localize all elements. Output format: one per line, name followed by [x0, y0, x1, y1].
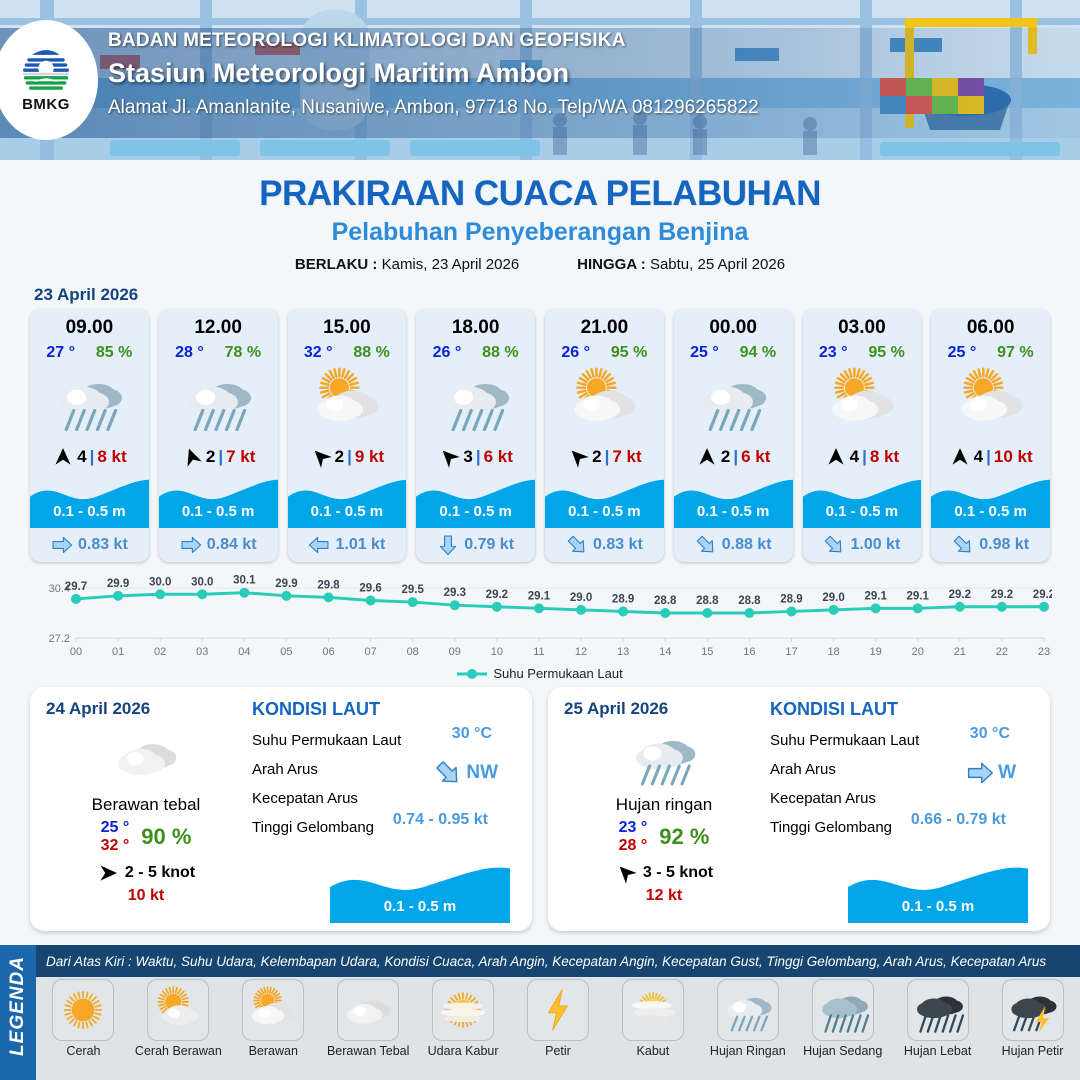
wind-separator: | — [347, 447, 352, 467]
sea-conditions: KONDISI LAUT Suhu Permukaan Laut Arah Ar… — [764, 699, 1034, 921]
day-wave: 0.1 - 0.5 m — [330, 861, 510, 923]
sst-chart-svg: 30.427.229.70029.90130.00230.00330.10429… — [28, 572, 1052, 664]
agency-name: BADAN METEOROLOGI KLIMATOLOGI DAN GEOFIS… — [108, 30, 759, 52]
day-date: 24 April 2026 — [46, 699, 246, 719]
station-address: Alamat Jl. Amanlanite, Nusaniwe, Ambon, … — [108, 97, 759, 119]
svg-text:29.9: 29.9 — [275, 578, 297, 590]
day-humidity: 92 % — [659, 824, 709, 850]
svg-text:29.2: 29.2 — [949, 589, 971, 601]
forecast-card: 06.00 25 ° 97 % 4 | 10 kt 0.1 - 0.5 m — [931, 309, 1050, 562]
wind-separator: | — [733, 447, 738, 467]
current-direction-value: W — [998, 762, 1016, 784]
day-temp-hum-row: 25 ° 32 ° 90 % — [46, 819, 246, 856]
legend-item-label: Kabut — [605, 1044, 700, 1058]
svg-text:30.0: 30.0 — [191, 576, 213, 588]
legend-items: Cerah Cerah Berawan Berawan — [36, 979, 1080, 1058]
current-direction-arrow-icon — [566, 534, 588, 556]
overcast-icon — [337, 979, 399, 1041]
light-rain-icon — [30, 362, 149, 440]
card-temp-hum-row: 27 ° 85 % — [30, 344, 149, 362]
current-speed-value: 0.74 - 0.95 kt — [393, 811, 488, 829]
card-time: 18.00 — [416, 317, 535, 339]
card-current-row: 1.00 kt — [803, 528, 922, 562]
validity-row: BERLAKU : Kamis, 23 April 2026 HINGGA : … — [0, 256, 1080, 273]
cloudy-icon — [288, 362, 407, 440]
day-summary: 24 April 2026 Berawan tebal 25 ° 32 ° 90… — [46, 699, 246, 921]
day-wind-row: 3 - 5 knot — [564, 862, 764, 884]
card-gust: 9 kt — [355, 447, 384, 467]
forecast-card: 12.00 28 ° 78 % 2 | 7 kt 0.1 - 0.5 m — [159, 309, 278, 562]
card-temperature: 23 ° — [819, 344, 848, 362]
card-wind-row: 4 | 8 kt — [30, 440, 149, 474]
page-title: PRAKIRAAN CUACA PELABUHAN — [0, 174, 1080, 214]
svg-text:05: 05 — [280, 646, 292, 658]
card-temperature: 28 ° — [175, 344, 204, 362]
legend-item: Udara Kabur — [416, 979, 511, 1058]
valid-from-label: BERLAKU : — [295, 256, 378, 273]
light-rain-icon — [674, 362, 793, 440]
day-temp-hum-row: 23 ° 28 ° 92 % — [564, 819, 764, 856]
card-wind-speed: 2 — [721, 447, 730, 467]
card-humidity: 85 % — [96, 344, 132, 362]
card-current-speed: 1.01 kt — [335, 536, 385, 554]
card-wind-speed: 4 — [974, 447, 983, 467]
wind-separator: | — [218, 447, 223, 467]
valid-from: BERLAKU : Kamis, 23 April 2026 — [295, 256, 519, 273]
card-time: 12.00 — [159, 317, 278, 339]
svg-text:21: 21 — [954, 646, 966, 658]
card-wind-speed: 4 — [850, 447, 859, 467]
legend-item-label: Berawan Tebal — [321, 1044, 416, 1058]
day-temp-max: 28 ° — [619, 837, 648, 855]
card-temperature: 26 ° — [561, 344, 590, 362]
svg-text:02: 02 — [154, 646, 166, 658]
card-temp-hum-row: 28 ° 78 % — [159, 344, 278, 362]
svg-text:07: 07 — [364, 646, 376, 658]
card-current-row: 1.01 kt — [288, 528, 407, 562]
station-name: Stasiun Meteorologi Maritim Ambon — [108, 58, 759, 89]
svg-text:03: 03 — [196, 646, 208, 658]
card-temp-hum-row: 25 ° 94 % — [674, 344, 793, 362]
day-gust: 10 kt — [46, 887, 246, 905]
haze-icon — [432, 979, 494, 1041]
page-subtitle: Pelabuhan Penyeberangan Benjina — [0, 218, 1080, 247]
current-direction-arrow-icon — [308, 534, 330, 556]
card-temperature: 32 ° — [304, 344, 333, 362]
card-current-row: 0.98 kt — [931, 528, 1050, 562]
wind-direction-arrow-icon — [949, 446, 971, 468]
day-temp-range: 25 ° 32 ° — [101, 819, 130, 856]
current-speed-label: Kecepatan Arus — [770, 790, 1034, 807]
svg-text:30.0: 30.0 — [149, 576, 171, 588]
svg-text:01: 01 — [112, 646, 124, 658]
forecast-card: 15.00 32 ° 88 % 2 | 9 kt 0.1 - 0.5 m — [288, 309, 407, 562]
day-temp-min: 23 ° — [619, 819, 648, 837]
svg-text:29.1: 29.1 — [864, 590, 887, 602]
card-humidity: 88 % — [482, 344, 518, 362]
legend-section: LEGENDA Dari Atas Kiri : Waktu, Suhu Uda… — [0, 945, 1080, 1080]
wind-direction-arrow-icon — [825, 446, 847, 468]
fog-icon — [622, 979, 684, 1041]
card-current-row: 0.84 kt — [159, 528, 278, 562]
legend-item-label: Petir — [511, 1044, 606, 1058]
overcast-icon — [46, 721, 246, 793]
card-wave: 0.1 - 0.5 m — [159, 474, 278, 528]
svg-text:04: 04 — [238, 646, 250, 658]
current-direction-arrow-icon — [695, 534, 717, 556]
card-wind-row: 2 | 9 kt — [288, 440, 407, 474]
card-gust: 6 kt — [484, 447, 513, 467]
card-wind-row: 2 | 7 kt — [159, 440, 278, 474]
wind-direction-arrow-icon — [696, 446, 718, 468]
forecast-card: 09.00 27 ° 85 % 4 | 8 kt 0.1 - 0.5 m — [30, 309, 149, 562]
daily-forecast-row: 24 April 2026 Berawan tebal 25 ° 32 ° 90… — [0, 681, 1080, 931]
svg-text:28.8: 28.8 — [738, 595, 761, 607]
card-wind-row: 2 | 7 kt — [545, 440, 664, 474]
legend-item-label: Berawan — [226, 1044, 321, 1058]
card-wave: 0.1 - 0.5 m — [288, 474, 407, 528]
chart-legend: Suhu Permukaan Laut — [0, 666, 1080, 681]
day-wind-range: 3 - 5 knot — [643, 864, 713, 882]
card-current-speed: 0.83 kt — [78, 536, 128, 554]
wind-direction-arrow-icon — [97, 862, 119, 884]
card-wind-row: 4 | 8 kt — [803, 440, 922, 474]
wind-direction-arrow-icon — [567, 446, 589, 468]
card-wave: 0.1 - 0.5 m — [674, 474, 793, 528]
card-temp-hum-row: 25 ° 97 % — [931, 344, 1050, 362]
wind-direction-arrow-icon — [310, 446, 332, 468]
legend-item-label: Udara Kabur — [416, 1044, 511, 1058]
light-rain-icon — [159, 362, 278, 440]
legend-item: Cerah Berawan — [131, 979, 226, 1058]
legend-note: Dari Atas Kiri : Waktu, Suhu Udara, Kele… — [36, 945, 1080, 977]
svg-text:19: 19 — [870, 646, 882, 658]
svg-text:10: 10 — [491, 646, 503, 658]
legend-item-label: Cerah Berawan — [131, 1044, 226, 1058]
card-wave-value: 0.1 - 0.5 m — [30, 503, 149, 520]
card-humidity: 95 % — [611, 344, 647, 362]
card-wave: 0.1 - 0.5 m — [931, 474, 1050, 528]
card-current-speed: 0.98 kt — [979, 536, 1029, 554]
card-current-speed: 0.83 kt — [593, 536, 643, 554]
legend-item: Hujan Lebat — [890, 979, 985, 1058]
card-time: 09.00 — [30, 317, 149, 339]
wind-separator: | — [605, 447, 610, 467]
svg-text:12: 12 — [575, 646, 587, 658]
svg-text:14: 14 — [659, 646, 671, 658]
card-wave: 0.1 - 0.5 m — [545, 474, 664, 528]
svg-text:29.9: 29.9 — [107, 578, 129, 590]
card-gust: 10 kt — [994, 447, 1033, 467]
day-wave-value: 0.1 - 0.5 m — [848, 898, 1028, 915]
card-wave-value: 0.1 - 0.5 m — [803, 503, 922, 520]
valid-from-value: Kamis, 23 April 2026 — [382, 256, 520, 273]
svg-text:16: 16 — [743, 646, 755, 658]
card-time: 21.00 — [545, 317, 664, 339]
sunny-icon — [52, 979, 114, 1041]
svg-text:17: 17 — [785, 646, 797, 658]
svg-text:29.0: 29.0 — [822, 592, 844, 604]
cloudy-icon — [803, 362, 922, 440]
card-gust: 8 kt — [870, 447, 899, 467]
day-condition: Berawan tebal — [46, 795, 246, 815]
wind-direction-arrow-icon — [52, 446, 74, 468]
card-current-speed: 0.79 kt — [464, 536, 514, 554]
card-wind-row: 4 | 10 kt — [931, 440, 1050, 474]
svg-text:29.8: 29.8 — [317, 579, 340, 591]
day-wind-row: 2 - 5 knot — [46, 862, 246, 884]
svg-text:08: 08 — [407, 646, 419, 658]
chart-legend-marker — [457, 668, 487, 680]
legend-item: Hujan Ringan — [700, 979, 795, 1058]
day-temp-min: 25 ° — [101, 819, 130, 837]
sea-conditions-title: KONDISI LAUT — [252, 699, 516, 720]
page-header: BMKG BADAN METEOROLOGI KLIMATOLOGI DAN G… — [0, 0, 1080, 160]
legend-item: Berawan Tebal — [321, 979, 416, 1058]
legend-item: Cerah — [36, 979, 131, 1058]
card-current-speed: 1.00 kt — [850, 536, 900, 554]
card-wave-value: 0.1 - 0.5 m — [545, 503, 664, 520]
wind-separator: | — [862, 447, 867, 467]
chart-legend-label: Suhu Permukaan Laut — [493, 666, 622, 681]
card-current-row: 0.88 kt — [674, 528, 793, 562]
bmkg-logo-icon — [20, 48, 72, 94]
cloudy-icon — [931, 362, 1050, 440]
svg-text:15: 15 — [701, 646, 713, 658]
current-direction-value: NW — [466, 762, 498, 784]
day-temp-range: 23 ° 28 ° — [619, 819, 648, 856]
day-gust: 12 kt — [564, 887, 764, 905]
card-wave-value: 0.1 - 0.5 m — [674, 503, 793, 520]
light-rain-icon — [717, 979, 779, 1041]
forecast-date-label: 23 April 2026 — [34, 285, 1080, 305]
hourly-forecast-row: 09.00 27 ° 85 % 4 | 8 kt 0.1 - 0.5 m — [0, 309, 1080, 562]
svg-text:28.9: 28.9 — [612, 593, 634, 605]
sst-chart: 30.427.229.70029.90130.00230.00330.10429… — [28, 572, 1052, 664]
legend-sidebar: LEGENDA — [0, 945, 36, 1080]
legend-item-label: Hujan Petir — [985, 1044, 1080, 1058]
lightning-icon — [527, 979, 589, 1041]
legend-item: Hujan Sedang — [795, 979, 890, 1058]
svg-text:29.7: 29.7 — [65, 581, 87, 593]
moderate-rain-icon — [812, 979, 874, 1041]
svg-text:06: 06 — [322, 646, 334, 658]
svg-text:29.2: 29.2 — [486, 589, 508, 601]
current-direction-arrow-icon — [823, 534, 845, 556]
card-gust: 7 kt — [612, 447, 641, 467]
wind-direction-arrow-icon — [615, 862, 637, 884]
current-direction-arrow-icon — [434, 759, 462, 787]
current-direction-arrow-icon — [51, 534, 73, 556]
light-rain-icon — [416, 362, 535, 440]
current-speed-value: 0.66 - 0.79 kt — [911, 811, 1006, 829]
svg-text:09: 09 — [449, 646, 461, 658]
card-wave-value: 0.1 - 0.5 m — [288, 503, 407, 520]
card-wave: 0.1 - 0.5 m — [416, 474, 535, 528]
day-wave-value: 0.1 - 0.5 m — [330, 898, 510, 915]
card-temp-hum-row: 26 ° 95 % — [545, 344, 664, 362]
valid-until-label: HINGGA : — [577, 256, 646, 273]
card-wave-value: 0.1 - 0.5 m — [931, 503, 1050, 520]
bmkg-logo-text: BMKG — [22, 96, 70, 113]
svg-text:20: 20 — [912, 646, 924, 658]
svg-text:29.1: 29.1 — [528, 590, 551, 602]
header-text-block: BADAN METEOROLOGI KLIMATOLOGI DAN GEOFIS… — [108, 30, 759, 119]
current-speed-label: Kecepatan Arus — [252, 790, 516, 807]
thunderstorm-icon — [1002, 979, 1064, 1041]
card-temperature: 25 ° — [948, 344, 977, 362]
current-direction-value-row: W — [966, 759, 1016, 787]
card-wave-value: 0.1 - 0.5 m — [159, 503, 278, 520]
card-time: 15.00 — [288, 317, 407, 339]
card-temp-hum-row: 23 ° 95 % — [803, 344, 922, 362]
svg-text:13: 13 — [617, 646, 629, 658]
card-temp-hum-row: 32 ° 88 % — [288, 344, 407, 362]
current-direction-arrow-icon — [180, 534, 202, 556]
svg-text:29.1: 29.1 — [907, 590, 930, 602]
day-condition: Hujan ringan — [564, 795, 764, 815]
card-wave-value: 0.1 - 0.5 m — [416, 503, 535, 520]
card-temperature: 26 ° — [433, 344, 462, 362]
forecast-card: 03.00 23 ° 95 % 4 | 8 kt 0.1 - 0.5 m — [803, 309, 922, 562]
card-time: 03.00 — [803, 317, 922, 339]
card-humidity: 95 % — [868, 344, 904, 362]
legend-item: Hujan Petir — [985, 979, 1080, 1058]
card-current-row: 0.79 kt — [416, 528, 535, 562]
valid-until: HINGGA : Sabtu, 25 April 2026 — [577, 256, 785, 273]
card-gust: 7 kt — [226, 447, 255, 467]
forecast-card: 21.00 26 ° 95 % 2 | 7 kt 0.1 - 0.5 m — [545, 309, 664, 562]
card-wind-row: 3 | 6 kt — [416, 440, 535, 474]
current-direction-value-row: NW — [434, 759, 498, 787]
legend-item: Kabut — [605, 979, 700, 1058]
svg-text:28.9: 28.9 — [780, 593, 802, 605]
heavy-rain-icon — [907, 979, 969, 1041]
daily-forecast-card: 24 April 2026 Berawan tebal 25 ° 32 ° 90… — [30, 687, 532, 931]
svg-text:29.3: 29.3 — [444, 587, 466, 599]
legend-sidebar-label: LEGENDA — [7, 954, 29, 1058]
card-wind-row: 2 | 6 kt — [674, 440, 793, 474]
wind-separator: | — [986, 447, 991, 467]
card-temperature: 25 ° — [690, 344, 719, 362]
light-rain-icon — [564, 721, 764, 793]
card-humidity: 94 % — [740, 344, 776, 362]
svg-text:18: 18 — [827, 646, 839, 658]
day-temp-max: 32 ° — [101, 837, 130, 855]
wind-separator: | — [476, 447, 481, 467]
legend-item: Petir — [511, 979, 606, 1058]
title-block: PRAKIRAAN CUACA PELABUHAN Pelabuhan Peny… — [0, 174, 1080, 273]
svg-text:30.1: 30.1 — [233, 575, 256, 587]
daily-forecast-card: 25 April 2026 Hujan ringan 23 ° 28 ° 92 … — [548, 687, 1050, 931]
current-direction-arrow-icon — [952, 534, 974, 556]
svg-text:22: 22 — [996, 646, 1008, 658]
wind-separator: | — [90, 447, 95, 467]
card-wave: 0.1 - 0.5 m — [30, 474, 149, 528]
forecast-card: 18.00 26 ° 88 % 3 | 6 kt 0.1 - 0.5 m — [416, 309, 535, 562]
sst-value: 30 °C — [452, 725, 492, 743]
legend-item: Berawan — [226, 979, 321, 1058]
sst-value: 30 °C — [970, 725, 1010, 743]
card-wave: 0.1 - 0.5 m — [803, 474, 922, 528]
day-summary: 25 April 2026 Hujan ringan 23 ° 28 ° 92 … — [564, 699, 764, 921]
card-time: 06.00 — [931, 317, 1050, 339]
card-time: 00.00 — [674, 317, 793, 339]
svg-text:29.6: 29.6 — [359, 583, 381, 595]
day-wave: 0.1 - 0.5 m — [848, 861, 1028, 923]
forecast-card: 00.00 25 ° 94 % 2 | 6 kt 0.1 - 0.5 m — [674, 309, 793, 562]
card-humidity: 88 % — [353, 344, 389, 362]
svg-text:00: 00 — [70, 646, 82, 658]
legend-item-label: Hujan Sedang — [795, 1044, 890, 1058]
current-direction-arrow-icon — [437, 534, 459, 556]
card-current-speed: 0.84 kt — [207, 536, 257, 554]
card-current-row: 0.83 kt — [30, 528, 149, 562]
svg-text:29.5: 29.5 — [402, 584, 425, 596]
legend-item-label: Cerah — [36, 1044, 131, 1058]
card-humidity: 97 % — [997, 344, 1033, 362]
card-current-row: 0.83 kt — [545, 528, 664, 562]
cloudy-icon — [545, 362, 664, 440]
svg-text:27.2: 27.2 — [49, 633, 70, 645]
legend-item-label: Hujan Ringan — [700, 1044, 795, 1058]
card-wind-speed: 3 — [463, 447, 472, 467]
svg-text:23: 23 — [1038, 646, 1050, 658]
svg-text:28.8: 28.8 — [696, 595, 719, 607]
card-temperature: 27 ° — [46, 344, 75, 362]
card-gust: 6 kt — [741, 447, 770, 467]
current-direction-arrow-icon — [966, 759, 994, 787]
card-wind-speed: 4 — [77, 447, 86, 467]
day-date: 25 April 2026 — [564, 699, 764, 719]
sea-conditions: KONDISI LAUT Suhu Permukaan Laut Arah Ar… — [246, 699, 516, 921]
wind-direction-arrow-icon — [181, 446, 203, 468]
svg-text:29.2: 29.2 — [991, 589, 1013, 601]
svg-text:29.0: 29.0 — [570, 592, 592, 604]
svg-text:11: 11 — [533, 646, 544, 658]
day-humidity: 90 % — [141, 824, 191, 850]
cloudy-icon — [242, 979, 304, 1041]
card-current-speed: 0.88 kt — [722, 536, 772, 554]
card-humidity: 78 % — [225, 344, 261, 362]
wind-direction-arrow-icon — [438, 446, 460, 468]
card-gust: 8 kt — [97, 447, 126, 467]
sea-conditions-title: KONDISI LAUT — [770, 699, 1034, 720]
svg-text:29.2: 29.2 — [1033, 589, 1052, 601]
valid-until-value: Sabtu, 25 April 2026 — [650, 256, 785, 273]
card-temp-hum-row: 26 ° 88 % — [416, 344, 535, 362]
svg-text:28.8: 28.8 — [654, 595, 677, 607]
legend-item-label: Hujan Lebat — [890, 1044, 985, 1058]
card-wind-speed: 2 — [206, 447, 215, 467]
partly-cloudy-icon — [147, 979, 209, 1041]
day-wind-range: 2 - 5 knot — [125, 864, 195, 882]
